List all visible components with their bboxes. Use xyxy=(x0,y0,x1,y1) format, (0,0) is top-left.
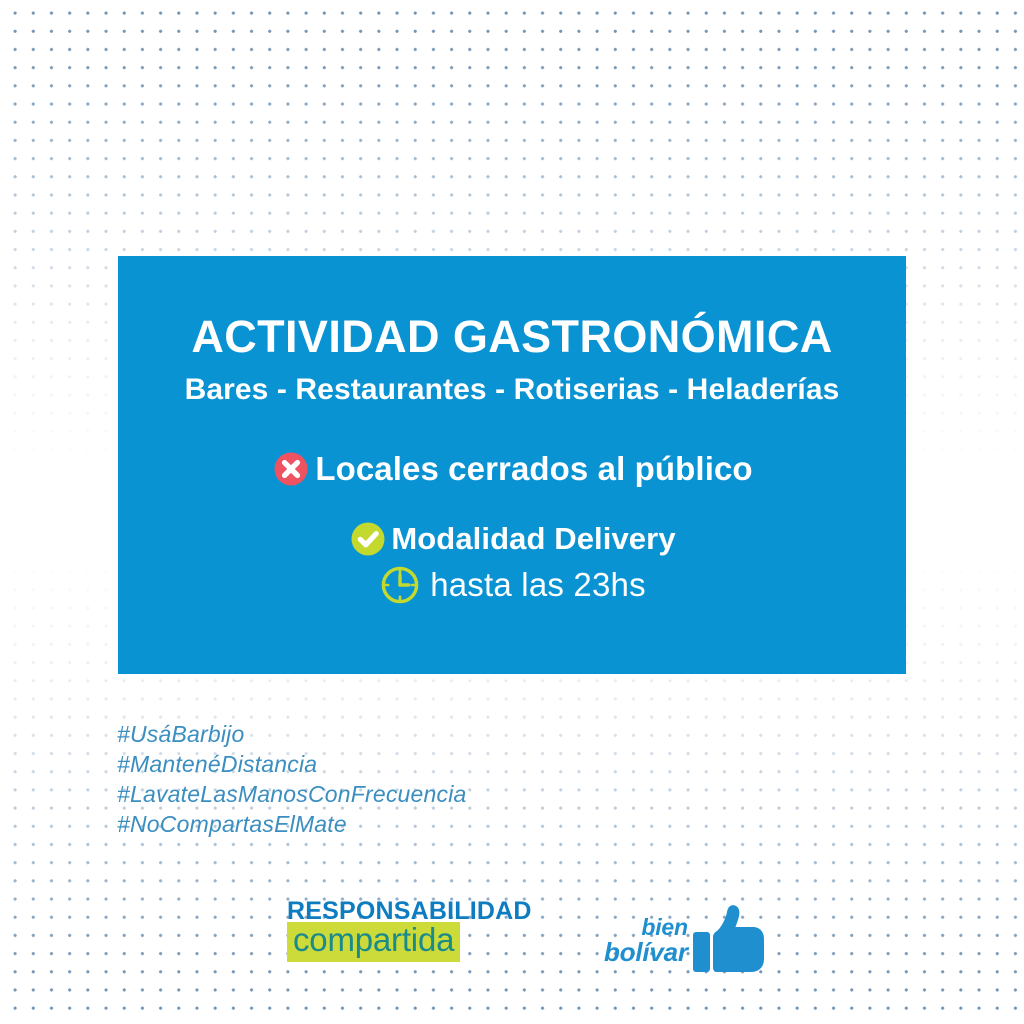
hashtag-item: #UsáBarbijo xyxy=(117,719,467,749)
poster: ACTIVIDAD GASTRONÓMICA Bares - Restauran… xyxy=(0,0,1024,1024)
hashtag-list: #UsáBarbijo #MantenéDistancia #LavateLas… xyxy=(117,719,467,839)
bien-bolivar-logo: bien bolívar xyxy=(604,904,767,976)
responsabilidad-line2: compartida xyxy=(293,923,454,957)
circle-check-icon xyxy=(348,519,388,559)
thumbs-up-b-icon xyxy=(689,904,767,976)
hashtag-item: #NoCompartasElMate xyxy=(117,809,467,839)
card-subtitle: Bares - Restaurantes - Rotiserias - Hela… xyxy=(118,360,906,407)
hashtag-item: #LavateLasManosConFrecuencia xyxy=(117,779,467,809)
responsabilidad-compartida-logo: RESPONSABILIDAD compartida xyxy=(287,898,532,962)
compartida-highlight: compartida xyxy=(287,922,460,962)
bien-bolivar-line2: bolívar xyxy=(604,940,688,965)
notice-row-closed: Locales cerrados al público xyxy=(118,449,906,489)
notice-label-delivery: Modalidad Delivery xyxy=(391,521,675,557)
card-title: ACTIVIDAD GASTRONÓMICA xyxy=(118,256,906,360)
notice-label-hours: hasta las 23hs xyxy=(430,566,646,604)
footer-logos: RESPONSABILIDAD compartida bien bolívar xyxy=(0,898,1024,984)
hashtag-item: #MantenéDistancia xyxy=(117,749,467,779)
notice-label-closed: Locales cerrados al público xyxy=(315,450,752,488)
notice-row-hours: hasta las 23hs xyxy=(118,563,906,607)
bien-bolivar-wordmark: bien bolívar xyxy=(604,915,688,965)
notice-row-delivery: Modalidad Delivery xyxy=(118,519,906,559)
announcement-card: ACTIVIDAD GASTRONÓMICA Bares - Restauran… xyxy=(118,256,906,674)
clock-icon xyxy=(378,563,422,607)
circle-x-icon xyxy=(271,449,311,489)
